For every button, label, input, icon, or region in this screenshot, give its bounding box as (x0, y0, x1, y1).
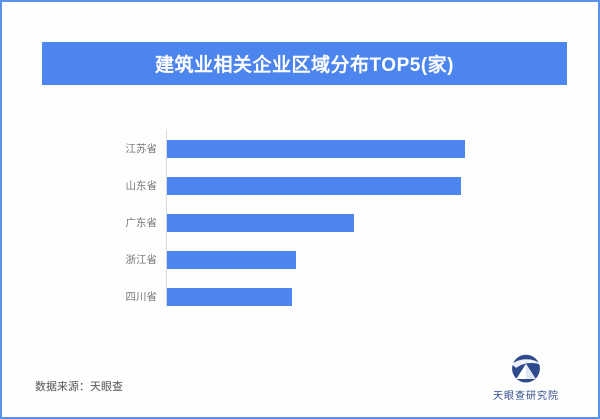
bar-chart-plot-area: 江苏省 山东省 广东省 浙江省 四川省 (2, 120, 600, 320)
infographic-card: 建筑业相关企业区域分布TOP5(家) 江苏省 山东省 广东省 浙江省 四川省 数… (0, 0, 600, 419)
brand-logo-text: 天眼查研究院 (493, 387, 559, 402)
bar-3 (167, 251, 296, 269)
page-title: 建筑业相关企业区域分布TOP5(家) (155, 50, 454, 77)
category-label-2: 广东省 (62, 214, 157, 232)
chart-title-band: 建筑业相关企业区域分布TOP5(家) (42, 42, 567, 85)
category-label-3: 浙江省 (62, 251, 157, 269)
brand-logo: 天眼查研究院 (478, 354, 574, 406)
bar-1 (167, 177, 461, 195)
category-label-1: 山东省 (62, 177, 157, 195)
bar-4 (167, 288, 292, 306)
bar-2 (167, 214, 354, 232)
category-label-0: 江苏省 (62, 140, 157, 158)
bar-0 (167, 140, 465, 158)
category-label-4: 四川省 (62, 288, 157, 306)
tianyancha-bird-logo-icon (505, 354, 547, 386)
data-source-label: 数据来源：天眼查 (35, 378, 123, 394)
